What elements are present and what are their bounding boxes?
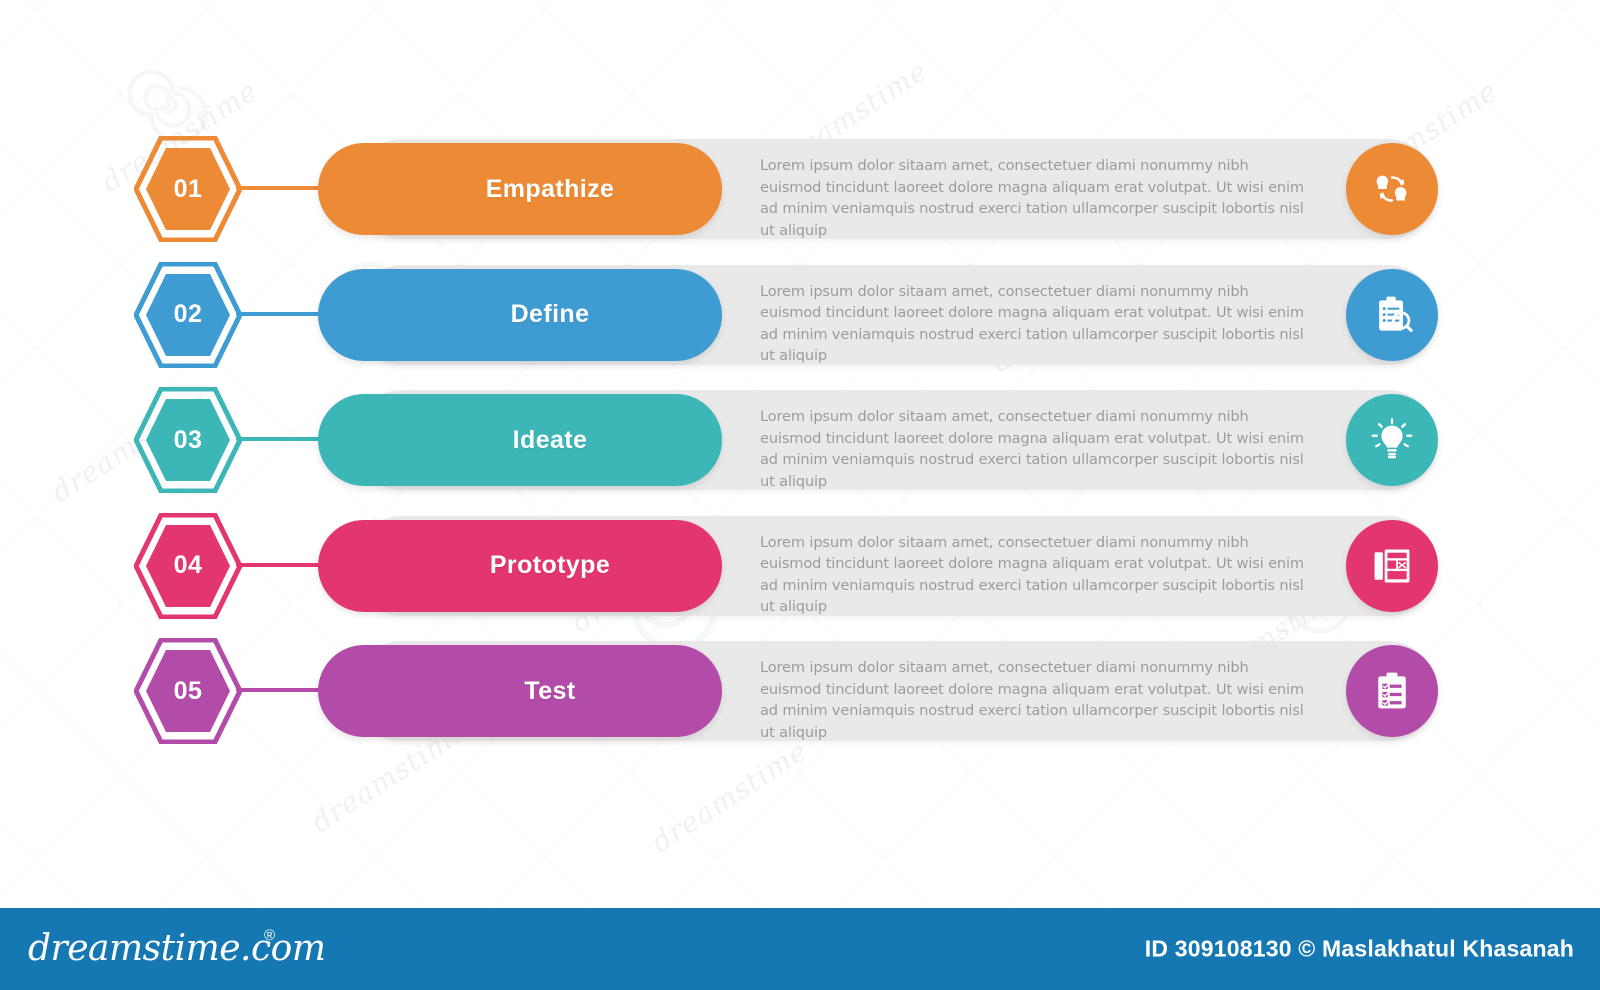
step-number-badge[interactable]: 03 bbox=[134, 387, 242, 493]
dreamstime-logo: dreamstime.com ® bbox=[28, 931, 325, 967]
step-title-label: Empathize bbox=[486, 175, 615, 204]
step-icon-badge[interactable] bbox=[1346, 645, 1438, 737]
connector-line bbox=[236, 312, 326, 316]
step-description: Lorem ipsum dolor sitaam amet, consectet… bbox=[760, 657, 1305, 743]
footer-bar: dreamstime.com ® ID 309108130 © Maslakha… bbox=[0, 908, 1600, 990]
step-icon-badge[interactable] bbox=[1346, 394, 1438, 486]
step-title-label: Define bbox=[511, 300, 590, 329]
step-icon-badge[interactable] bbox=[1346, 143, 1438, 235]
step-title-pill[interactable]: Ideate bbox=[318, 394, 722, 486]
step-number-badge[interactable]: 05 bbox=[134, 638, 242, 744]
connector-line bbox=[236, 563, 326, 567]
wireframe-layout-icon bbox=[1370, 544, 1414, 588]
step-number-badge[interactable]: 01 bbox=[134, 136, 242, 242]
clipboard-search-icon bbox=[1370, 293, 1414, 337]
step-number-badge[interactable]: 02 bbox=[134, 262, 242, 368]
step-icon-badge[interactable] bbox=[1346, 269, 1438, 361]
step-title-pill[interactable]: Define bbox=[318, 269, 722, 361]
infographic-canvas: dreamstimedreamstimedreamstimedreamstime… bbox=[0, 0, 1600, 990]
step-description: Lorem ipsum dolor sitaam amet, consectet… bbox=[760, 532, 1305, 618]
connector-line bbox=[236, 186, 326, 190]
step-title-pill[interactable]: Test bbox=[318, 645, 722, 737]
step-row[interactable]: 04 Prototype Lorem ipsum dolor sitaam am… bbox=[0, 516, 1600, 641]
step-number-badge[interactable]: 04 bbox=[134, 513, 242, 619]
step-row[interactable]: 02 Define Lorem ipsum dolor sitaam amet,… bbox=[0, 265, 1600, 390]
step-number-label: 03 bbox=[134, 387, 242, 493]
image-credit: ID 309108130 © Maslakhatul Khasanah bbox=[1145, 936, 1574, 963]
step-icon-badge[interactable] bbox=[1346, 520, 1438, 612]
lightbulb-icon bbox=[1369, 417, 1415, 463]
two-heads-exchange-icon bbox=[1369, 166, 1415, 212]
step-title-pill[interactable]: Prototype bbox=[318, 520, 722, 612]
step-description: Lorem ipsum dolor sitaam amet, consectet… bbox=[760, 281, 1305, 367]
connector-line bbox=[236, 437, 326, 441]
brand-name: dreamstime.com bbox=[28, 931, 325, 967]
step-number-label: 02 bbox=[134, 262, 242, 368]
step-row[interactable]: 01 Empathize Lorem ipsum dolor sitaam am… bbox=[0, 139, 1600, 264]
connector-line bbox=[236, 688, 326, 692]
step-description: Lorem ipsum dolor sitaam amet, consectet… bbox=[760, 155, 1305, 241]
step-number-label: 05 bbox=[134, 638, 242, 744]
step-number-label: 01 bbox=[134, 136, 242, 242]
step-title-pill[interactable]: Empathize bbox=[318, 143, 722, 235]
registered-mark-icon: ® bbox=[264, 927, 275, 944]
step-title-label: Test bbox=[524, 677, 575, 706]
step-title-label: Prototype bbox=[490, 551, 610, 580]
step-row[interactable]: 05 Test Lorem ipsum dolor sitaam amet, c… bbox=[0, 641, 1600, 766]
clipboard-checklist-icon bbox=[1370, 669, 1414, 713]
step-title-label: Ideate bbox=[513, 426, 588, 455]
step-description: Lorem ipsum dolor sitaam amet, consectet… bbox=[760, 406, 1305, 492]
step-row[interactable]: 03 Ideate Lorem ipsum dolor sitaam amet,… bbox=[0, 390, 1600, 515]
step-number-label: 04 bbox=[134, 513, 242, 619]
